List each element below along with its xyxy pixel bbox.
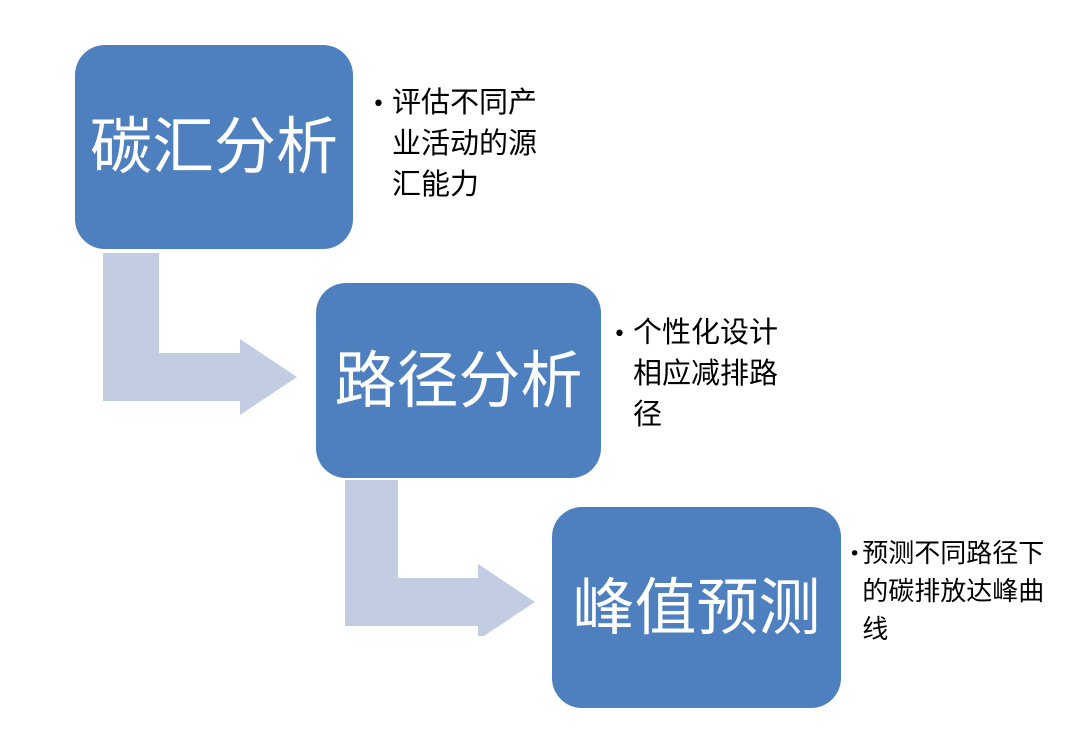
process-box-label: 峰值预测 (572, 575, 820, 640)
process-box-pathway-analysis[interactable]: 路径分析 (316, 283, 601, 478)
note-pathway-analysis: • 个性化设计相应减排路径 (613, 312, 799, 435)
process-box-label: 路径分析 (334, 348, 582, 413)
process-box-label: 碳汇分析 (90, 114, 338, 179)
process-box-peak-prediction[interactable]: 峰值预测 (552, 507, 841, 708)
note-text: 评估不同产业活动的源汇能力 (392, 82, 552, 205)
note-peak-prediction: • 预测不同路径下的碳排放达峰曲线 (849, 535, 1049, 649)
bullet-icon: • (849, 545, 860, 564)
note-row: • 个性化设计相应减排路径 (613, 312, 799, 435)
note-text: 个性化设计相应减排路径 (633, 312, 799, 435)
elbow-down-right-arrow-icon-2 (345, 480, 537, 636)
bullet-icon: • (613, 324, 626, 346)
bullet-icon: • (372, 94, 385, 116)
elbow-down-right-arrow-icon-1 (103, 253, 299, 421)
note-row: • 预测不同路径下的碳排放达峰曲线 (849, 535, 1049, 649)
diagram-canvas: 碳汇分析 • 评估不同产业活动的源汇能力 路径分析 • 个性化设计相应减排路径 … (0, 0, 1080, 752)
process-box-carbon-sink-analysis[interactable]: 碳汇分析 (75, 45, 353, 249)
note-row: • 评估不同产业活动的源汇能力 (372, 82, 552, 205)
note-text: 预测不同路径下的碳排放达峰曲线 (862, 535, 1049, 649)
note-carbon-sink-analysis: • 评估不同产业活动的源汇能力 (372, 82, 552, 205)
